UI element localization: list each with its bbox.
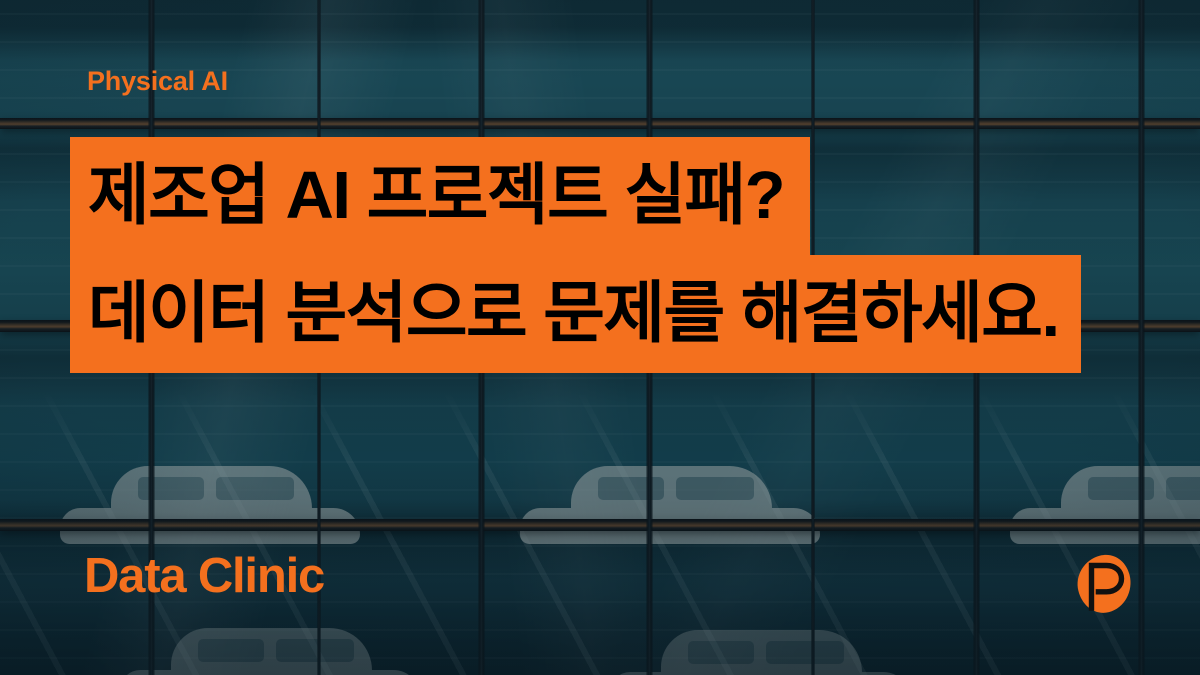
p-blob-logo-icon: [1064, 546, 1140, 622]
brand-wordmark: Data Clinic: [84, 552, 324, 601]
slide-content: Physical AI 제조업 AI 프로젝트 실패? 데이터 분석으로 문제를…: [0, 0, 1200, 675]
headline-line-1: 제조업 AI 프로젝트 실패?: [70, 137, 810, 255]
headline-block: 제조업 AI 프로젝트 실패? 데이터 분석으로 문제를 해결하세요.: [70, 137, 1081, 373]
eyebrow-label: Physical AI: [87, 68, 228, 95]
slide-canvas: Physical AI 제조업 AI 프로젝트 실패? 데이터 분석으로 문제를…: [0, 0, 1200, 675]
headline-line-2: 데이터 분석으로 문제를 해결하세요.: [70, 255, 1081, 373]
